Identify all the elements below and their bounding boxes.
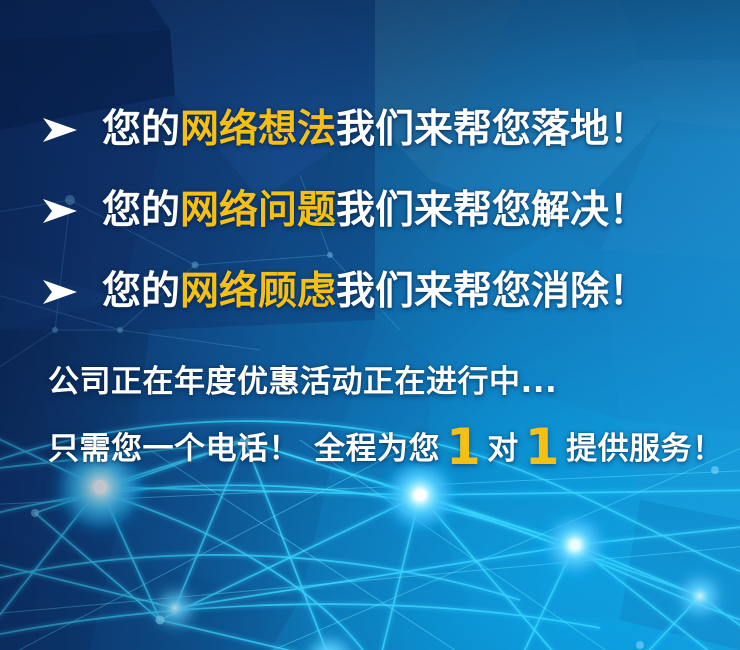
headline-1-suffix: 我们来帮您落地！ [336,107,648,152]
banner-content: 您的网络想法我们来帮您落地！ 您的网络问题我们来帮您解决！ 您的网络顾虑我们来帮… [0,0,740,650]
subline-2-part2: 全程为您 [314,431,440,467]
headline-3-highlight: 网络顾虑 [180,269,336,314]
arrow-right-icon [40,116,80,144]
arrow-right-icon [40,278,80,306]
arrow-right-icon [40,197,80,225]
headline-2-highlight: 网络问题 [180,188,336,233]
one-to-one-first-digit: 1 [446,418,481,476]
promo-subline-1: 公司正在年度优惠活动正在进行中... [48,360,557,404]
headline-row-3: 您的网络顾虑我们来帮您消除！ [40,267,648,317]
subline-2-part1: 只需您一个电话！ [48,431,300,467]
headline-text-2: 您的网络问题我们来帮您解决！ [102,186,648,236]
headline-row-2: 您的网络问题我们来帮您解决！ [40,186,648,236]
one-to-one-second-digit: 1 [525,418,560,476]
headline-1-highlight: 网络想法 [180,107,336,152]
subline-2-mid: 对 [487,431,519,467]
headline-2-prefix: 您的 [102,188,180,233]
headline-3-prefix: 您的 [102,269,180,314]
headline-1-prefix: 您的 [102,107,180,152]
headline-2-suffix: 我们来帮您解决！ [336,188,648,233]
headline-3-suffix: 我们来帮您消除！ [336,269,648,314]
headline-row-1: 您的网络想法我们来帮您落地！ [40,105,648,155]
headline-text-3: 您的网络顾虑我们来帮您消除！ [102,267,648,317]
promo-subline-2: 只需您一个电话！全程为您1对1提供服务！ [48,427,724,471]
promo-banner: 您的网络想法我们来帮您落地！ 您的网络问题我们来帮您解决！ 您的网络顾虑我们来帮… [0,0,740,650]
headline-text-1: 您的网络想法我们来帮您落地！ [102,105,648,155]
subline-2-part3: 提供服务！ [566,431,724,467]
